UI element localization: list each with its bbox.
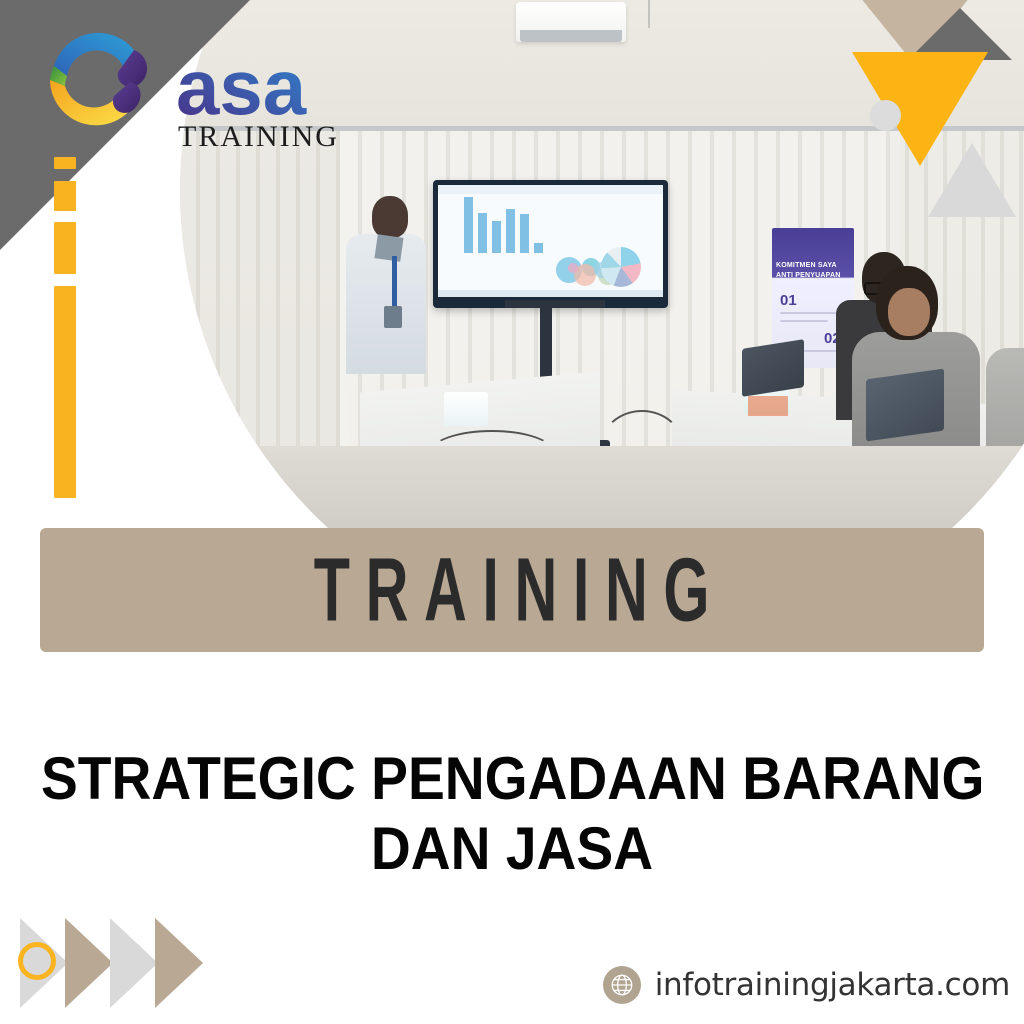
- light-grey-triangle-decor: [928, 143, 1016, 217]
- footer-website[interactable]: infotrainingjakarta.com: [603, 962, 1010, 1008]
- brand-logo: asa TRAINING: [28, 14, 338, 154]
- screen-bar: [506, 209, 515, 253]
- wall-poster-line2: ANTI PENYUAPAN: [776, 272, 852, 280]
- ceiling-wire: [648, 0, 650, 28]
- logo-wordmark: asa: [176, 43, 307, 131]
- screen-toolbar: [438, 185, 663, 194]
- display-screen: [438, 185, 663, 297]
- power-cable: [430, 430, 554, 474]
- yellow-ring-icon: [18, 942, 56, 980]
- power-cable: [600, 410, 684, 484]
- dash-segment: [54, 286, 76, 498]
- air-conditioner-vent: [520, 30, 622, 42]
- globe-icon: [603, 966, 641, 1004]
- screen-bubble: [568, 263, 578, 273]
- training-banner: TRAINING: [40, 528, 984, 652]
- participant-right-body: [986, 348, 1024, 458]
- dash-segment: [54, 157, 76, 169]
- screen-stand-arm: [505, 300, 605, 308]
- presenter-collar: [374, 234, 403, 261]
- screen-bar: [492, 221, 501, 253]
- dash-segment: [54, 181, 76, 211]
- wall-poster-num1: 01: [780, 292, 797, 309]
- title-line-1: STRATEGIC PENGADAAN BARANG: [41, 744, 983, 814]
- presenter-head: [372, 196, 408, 238]
- laptop-one: [742, 339, 804, 397]
- wall-poster-rule: [780, 312, 836, 314]
- casa-logo-svg: asa TRAINING: [28, 14, 338, 154]
- screen-bar: [478, 213, 487, 253]
- wall-poster-rule: [780, 320, 828, 322]
- chevron-icon: [155, 918, 203, 1008]
- logo-tagline: TRAINING: [178, 120, 338, 153]
- title-line-2: DAN JASA: [41, 814, 983, 884]
- laptop-two: [866, 369, 944, 442]
- presenter-lanyard: [392, 256, 397, 312]
- tissue-box-label: [748, 396, 788, 416]
- screen-bar: [534, 243, 543, 253]
- participant-front-face: [888, 288, 930, 336]
- chevron-icon: [110, 918, 158, 1008]
- screen-taskbar: [438, 290, 663, 297]
- poster-canvas: KOMITMEN SAYA ANTI PENYUAPAN 01 02: [0, 0, 1024, 1024]
- website-url[interactable]: infotrainingjakarta.com: [655, 967, 1010, 1003]
- screen-bar: [464, 197, 473, 253]
- training-banner-label: TRAINING: [299, 539, 726, 642]
- presenter-badge: [384, 306, 402, 328]
- chevron-decor-group: [20, 918, 220, 1008]
- chevron-icon: [65, 918, 113, 1008]
- screen-bar: [520, 214, 529, 253]
- grey-circle-decor: [870, 100, 901, 131]
- screen-pie-chart: [601, 247, 641, 287]
- page-title: STRATEGIC PENGADAAN BARANG DAN JASA: [0, 744, 1024, 884]
- wall-poster-line1: KOMITMEN SAYA: [776, 262, 852, 270]
- tissue-box-left: [444, 392, 488, 426]
- dash-segment: [54, 222, 76, 274]
